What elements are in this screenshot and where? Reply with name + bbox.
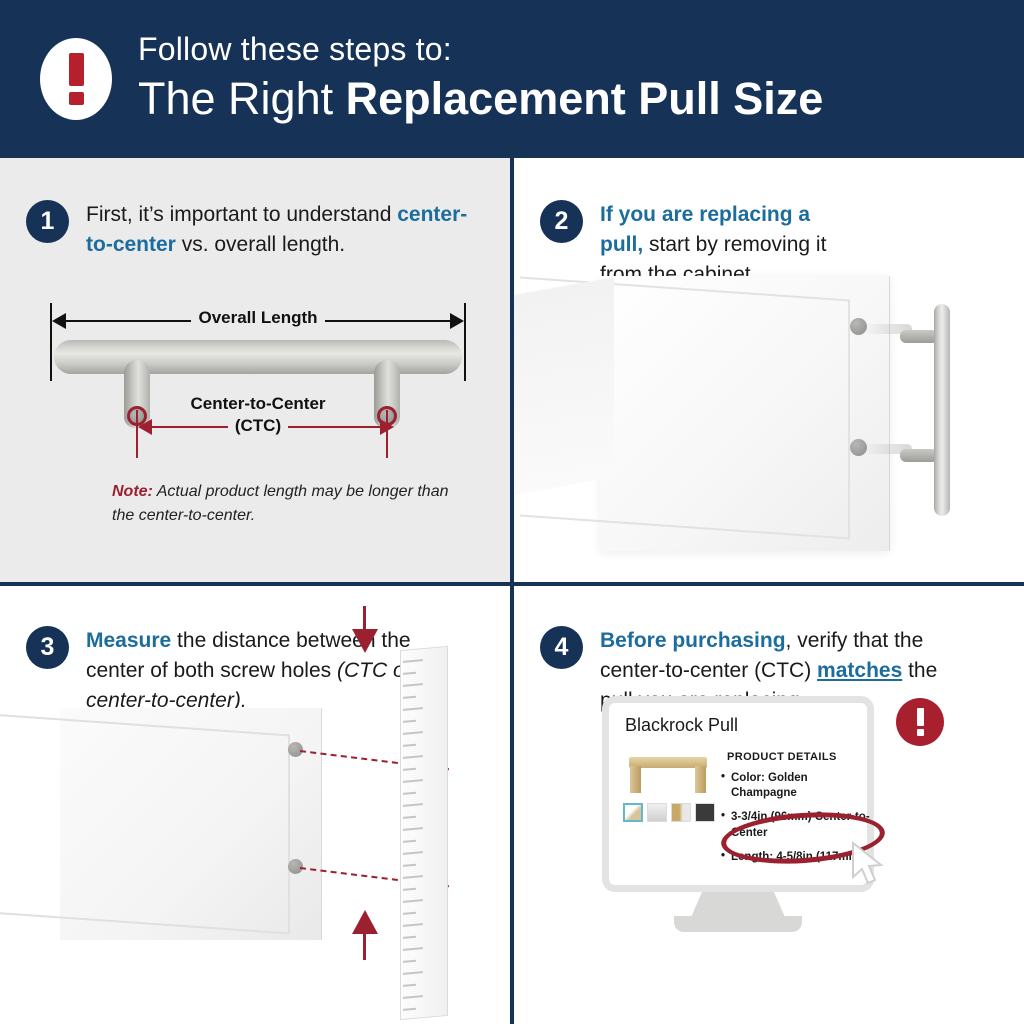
thumbnail-2[interactable] [647, 803, 667, 822]
thumbnail-4[interactable] [695, 803, 715, 822]
step-3-panel: 3 Measure the distance between the cente… [0, 586, 510, 1024]
cabinet-door-graphic-measure [60, 708, 322, 940]
step-1-text: First, it’s important to understand cent… [86, 200, 481, 260]
step-3-text-accent: Measure [86, 629, 171, 652]
step-4-panel: 4 Before purchasing, verify that the cen… [514, 586, 1024, 1024]
step-4-number: 4 [540, 626, 583, 669]
cabinet-door-graphic [600, 276, 890, 551]
removed-pull-bar [934, 304, 950, 516]
pull-post-top [900, 330, 938, 343]
product-image [625, 753, 711, 797]
exclamation-icon [40, 38, 112, 120]
overall-length-label: Overall Length [48, 308, 468, 328]
mouse-cursor-icon [851, 841, 885, 887]
product-details-heading: PRODUCT DETAILS [727, 751, 837, 763]
step-4-text-accent: Before purchasing [600, 629, 786, 652]
step-1-panel: 1 First, it’s important to understand ce… [0, 158, 510, 582]
step-1-header: 1 First, it’s important to understand ce… [26, 200, 481, 260]
title-bold: Replacement Pull Size [346, 73, 824, 124]
step-2-number: 2 [540, 200, 583, 243]
page-title: The Right Replacement Pull Size [138, 72, 823, 127]
step-1-text-a: First, it’s important to understand [86, 203, 397, 226]
pull-bar-graphic [54, 340, 462, 374]
detail-color: Color: Golden Champagne [721, 771, 871, 801]
ruler-graphic [400, 646, 448, 1020]
infographic-page: Follow these steps to: The Right Replace… [0, 0, 1024, 1024]
header-text: Follow these steps to: The Right Replace… [138, 31, 823, 128]
product-title: Blackrock Pull [625, 715, 738, 736]
header-eyebrow: Follow these steps to: [138, 31, 823, 69]
step-1-text-b: vs. overall length. [176, 233, 345, 256]
measure-arrow-stem-bottom [363, 934, 366, 960]
thumbnail-strip[interactable] [623, 803, 715, 822]
header-banner: Follow these steps to: The Right Replace… [0, 0, 1024, 158]
step-2-panel: 2 If you are replacing a pull, start by … [514, 158, 1024, 582]
grid-divider-vertical [510, 158, 514, 1024]
step-4-text-link[interactable]: matches [817, 659, 902, 682]
measure-arrow-down-icon [352, 629, 378, 653]
measure-arrow-up-icon [352, 910, 378, 934]
step-1-note: Note: Actual product length may be longe… [112, 480, 452, 528]
pull-dimension-diagram: Overall Length Center-to-Center (CTC) [48, 308, 468, 468]
screw-hole-top [850, 318, 867, 335]
cabinet-door-edge [514, 277, 614, 495]
monitor-stand-base [674, 916, 802, 932]
grid-divider-horizontal [0, 582, 1024, 586]
pull-post-bottom [900, 449, 938, 462]
thumbnail-3[interactable] [671, 803, 691, 822]
monitor-screen: Blackrock Pull PRODUCT DETAILS Color: Go… [602, 696, 874, 892]
note-text: Actual product length may be longer than… [112, 483, 448, 524]
note-label: Note: [112, 483, 153, 500]
title-light: The Right [138, 73, 346, 124]
thumbnail-1[interactable] [623, 803, 643, 822]
cabinet-door-inset-measure [0, 714, 290, 935]
ctc-abbrev-label: (CTC) [108, 416, 408, 436]
step-1-number: 1 [26, 200, 69, 243]
exclamation-badge-icon [896, 698, 944, 746]
ctc-label: Center-to-Center [108, 394, 408, 414]
steps-grid: 1 First, it’s important to understand ce… [0, 158, 1024, 1024]
screw-hole-bottom [850, 439, 867, 456]
step-3-number: 3 [26, 626, 69, 669]
